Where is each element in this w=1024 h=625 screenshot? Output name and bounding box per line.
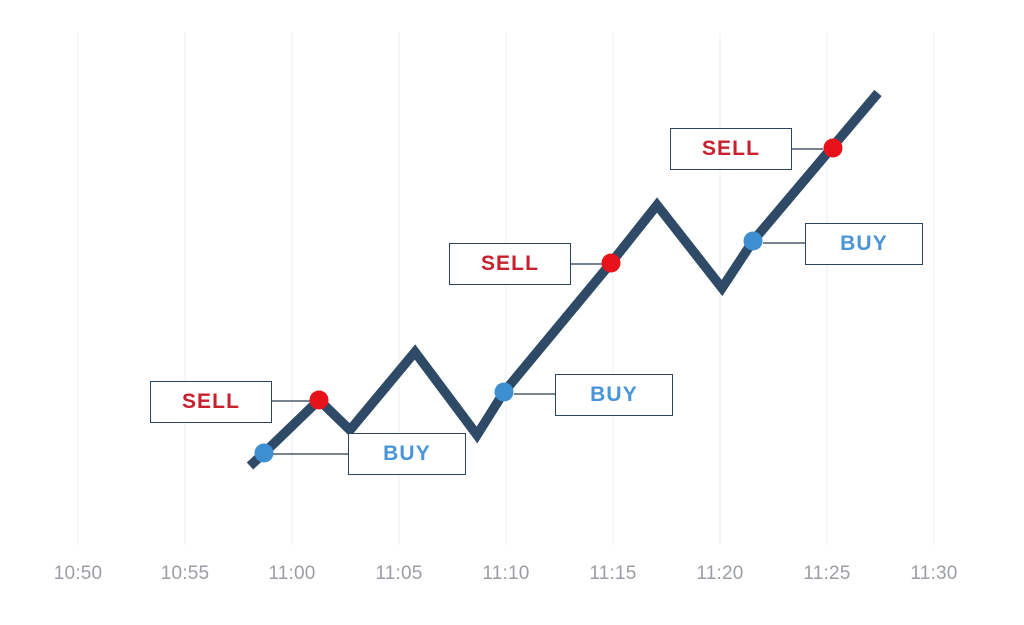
x-tick-label-5: 11:15	[589, 563, 636, 585]
gridlines	[78, 33, 934, 545]
chart-canvas	[0, 0, 1024, 625]
sell-marker-dot[interactable]	[602, 254, 621, 273]
annotation-sell-2[interactable]: SELL	[449, 243, 571, 285]
annotation-sell-3[interactable]: SELL	[670, 128, 792, 170]
x-tick-label-0: 10:50	[54, 563, 103, 585]
trading-signal-chart: 10:50 10:55 11:00 11:05 11:10 11:15 11:2…	[0, 0, 1024, 625]
annotation-buy-3[interactable]: BUY	[805, 223, 923, 265]
x-tick-label-7: 11:25	[803, 563, 850, 585]
sell-marker-dot[interactable]	[310, 391, 329, 410]
annotation-buy-1[interactable]: BUY	[348, 433, 466, 475]
signal-markers	[255, 139, 843, 463]
x-tick-label-8: 11:30	[910, 563, 957, 585]
buy-marker-dot[interactable]	[495, 383, 514, 402]
annotation-leader-lines	[272, 149, 823, 454]
sell-marker-dot[interactable]	[824, 139, 843, 158]
x-tick-label-6: 11:20	[696, 563, 743, 585]
x-tick-label-2: 11:00	[268, 563, 315, 585]
x-tick-label-3: 11:05	[375, 563, 422, 585]
annotation-sell-1[interactable]: SELL	[150, 381, 272, 423]
buy-marker-dot[interactable]	[255, 444, 274, 463]
x-tick-label-1: 10:55	[161, 563, 210, 585]
annotation-buy-2[interactable]: BUY	[555, 374, 673, 416]
x-tick-label-4: 11:10	[482, 563, 529, 585]
buy-marker-dot[interactable]	[744, 232, 763, 251]
